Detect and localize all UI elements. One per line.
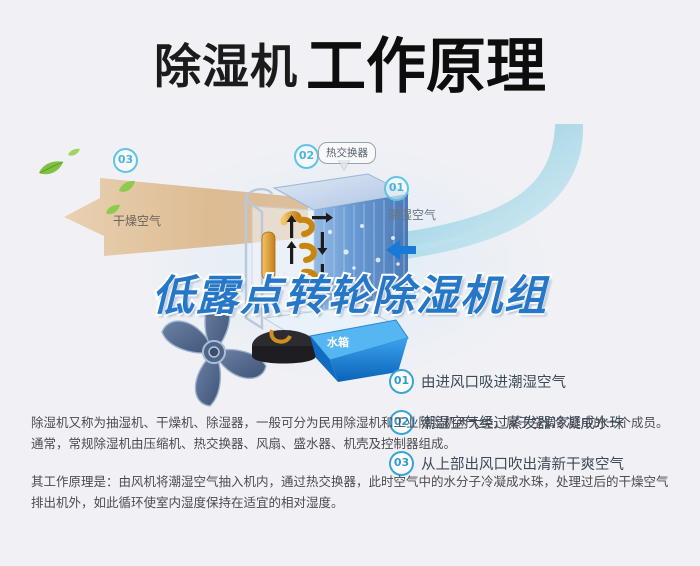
paragraph-1: 除湿机又称为抽湿机、干燥机、除湿器，一般可分为民用除湿机和工业除湿机两大类，属于…: [31, 412, 671, 454]
leaf-icon: [118, 180, 136, 194]
title-part-secondary: 工作原理: [306, 37, 546, 97]
humid-air-flow-arc: [385, 122, 625, 272]
page-root: 除湿机 工作原理: [0, 0, 700, 566]
diagram-badge-01: 01: [384, 176, 409, 201]
description-block: 除湿机又称为抽湿机、干燥机、除湿器，一般可分为民用除湿机和工业除湿机两大类，属于…: [31, 412, 671, 513]
diagram-badge-03: 03: [113, 148, 138, 173]
label-humid-air: 潮湿空气: [388, 206, 436, 223]
page-title: 除湿机 工作原理: [0, 24, 700, 110]
leaf-icon: [38, 160, 64, 178]
paragraph-2-line-1: 其工作原理是：由风机将潮湿空气抽入机内，通过热交换器，此时空气中的水分子冷凝成水…: [31, 471, 671, 492]
label-dry-air: 干燥空气: [113, 212, 161, 229]
diagram-badge-02: 02: [294, 144, 319, 169]
step-text-01: 由进风口吸进潮湿空气: [421, 371, 566, 392]
step-badge-01: 01: [389, 369, 414, 394]
title-part-primary: 除湿机: [154, 44, 298, 91]
paragraph-1-line-2: 通常，常规除湿机由压缩机、热交换器、风扇、盛水器、机壳及控制器组成。: [31, 433, 671, 454]
leaf-icon: [68, 148, 80, 157]
label-water-tank: 水箱: [327, 334, 349, 350]
paragraph-1-line-1: 除湿机又称为抽湿机、干燥机、除湿器，一般可分为民用除湿机和工业除湿机两大类，属于…: [31, 412, 671, 433]
dehumidifier-diagram: 03 02 01 热交换器 干燥空气 潮湿空气 水箱 01 由进风口吸进潮湿空气…: [0, 122, 700, 400]
paragraph-2-line-2: 排出机外，如此循环使室内湿度保持在适宜的相对湿度。: [31, 492, 671, 513]
list-item: 01 由进风口吸进潮湿空气: [389, 370, 689, 392]
callout-tail-icon: [338, 159, 350, 170]
paragraph-2: 其工作原理是：由风机将潮湿空气抽入机内，通过热交换器，此时空气中的水分子冷凝成水…: [31, 471, 671, 513]
